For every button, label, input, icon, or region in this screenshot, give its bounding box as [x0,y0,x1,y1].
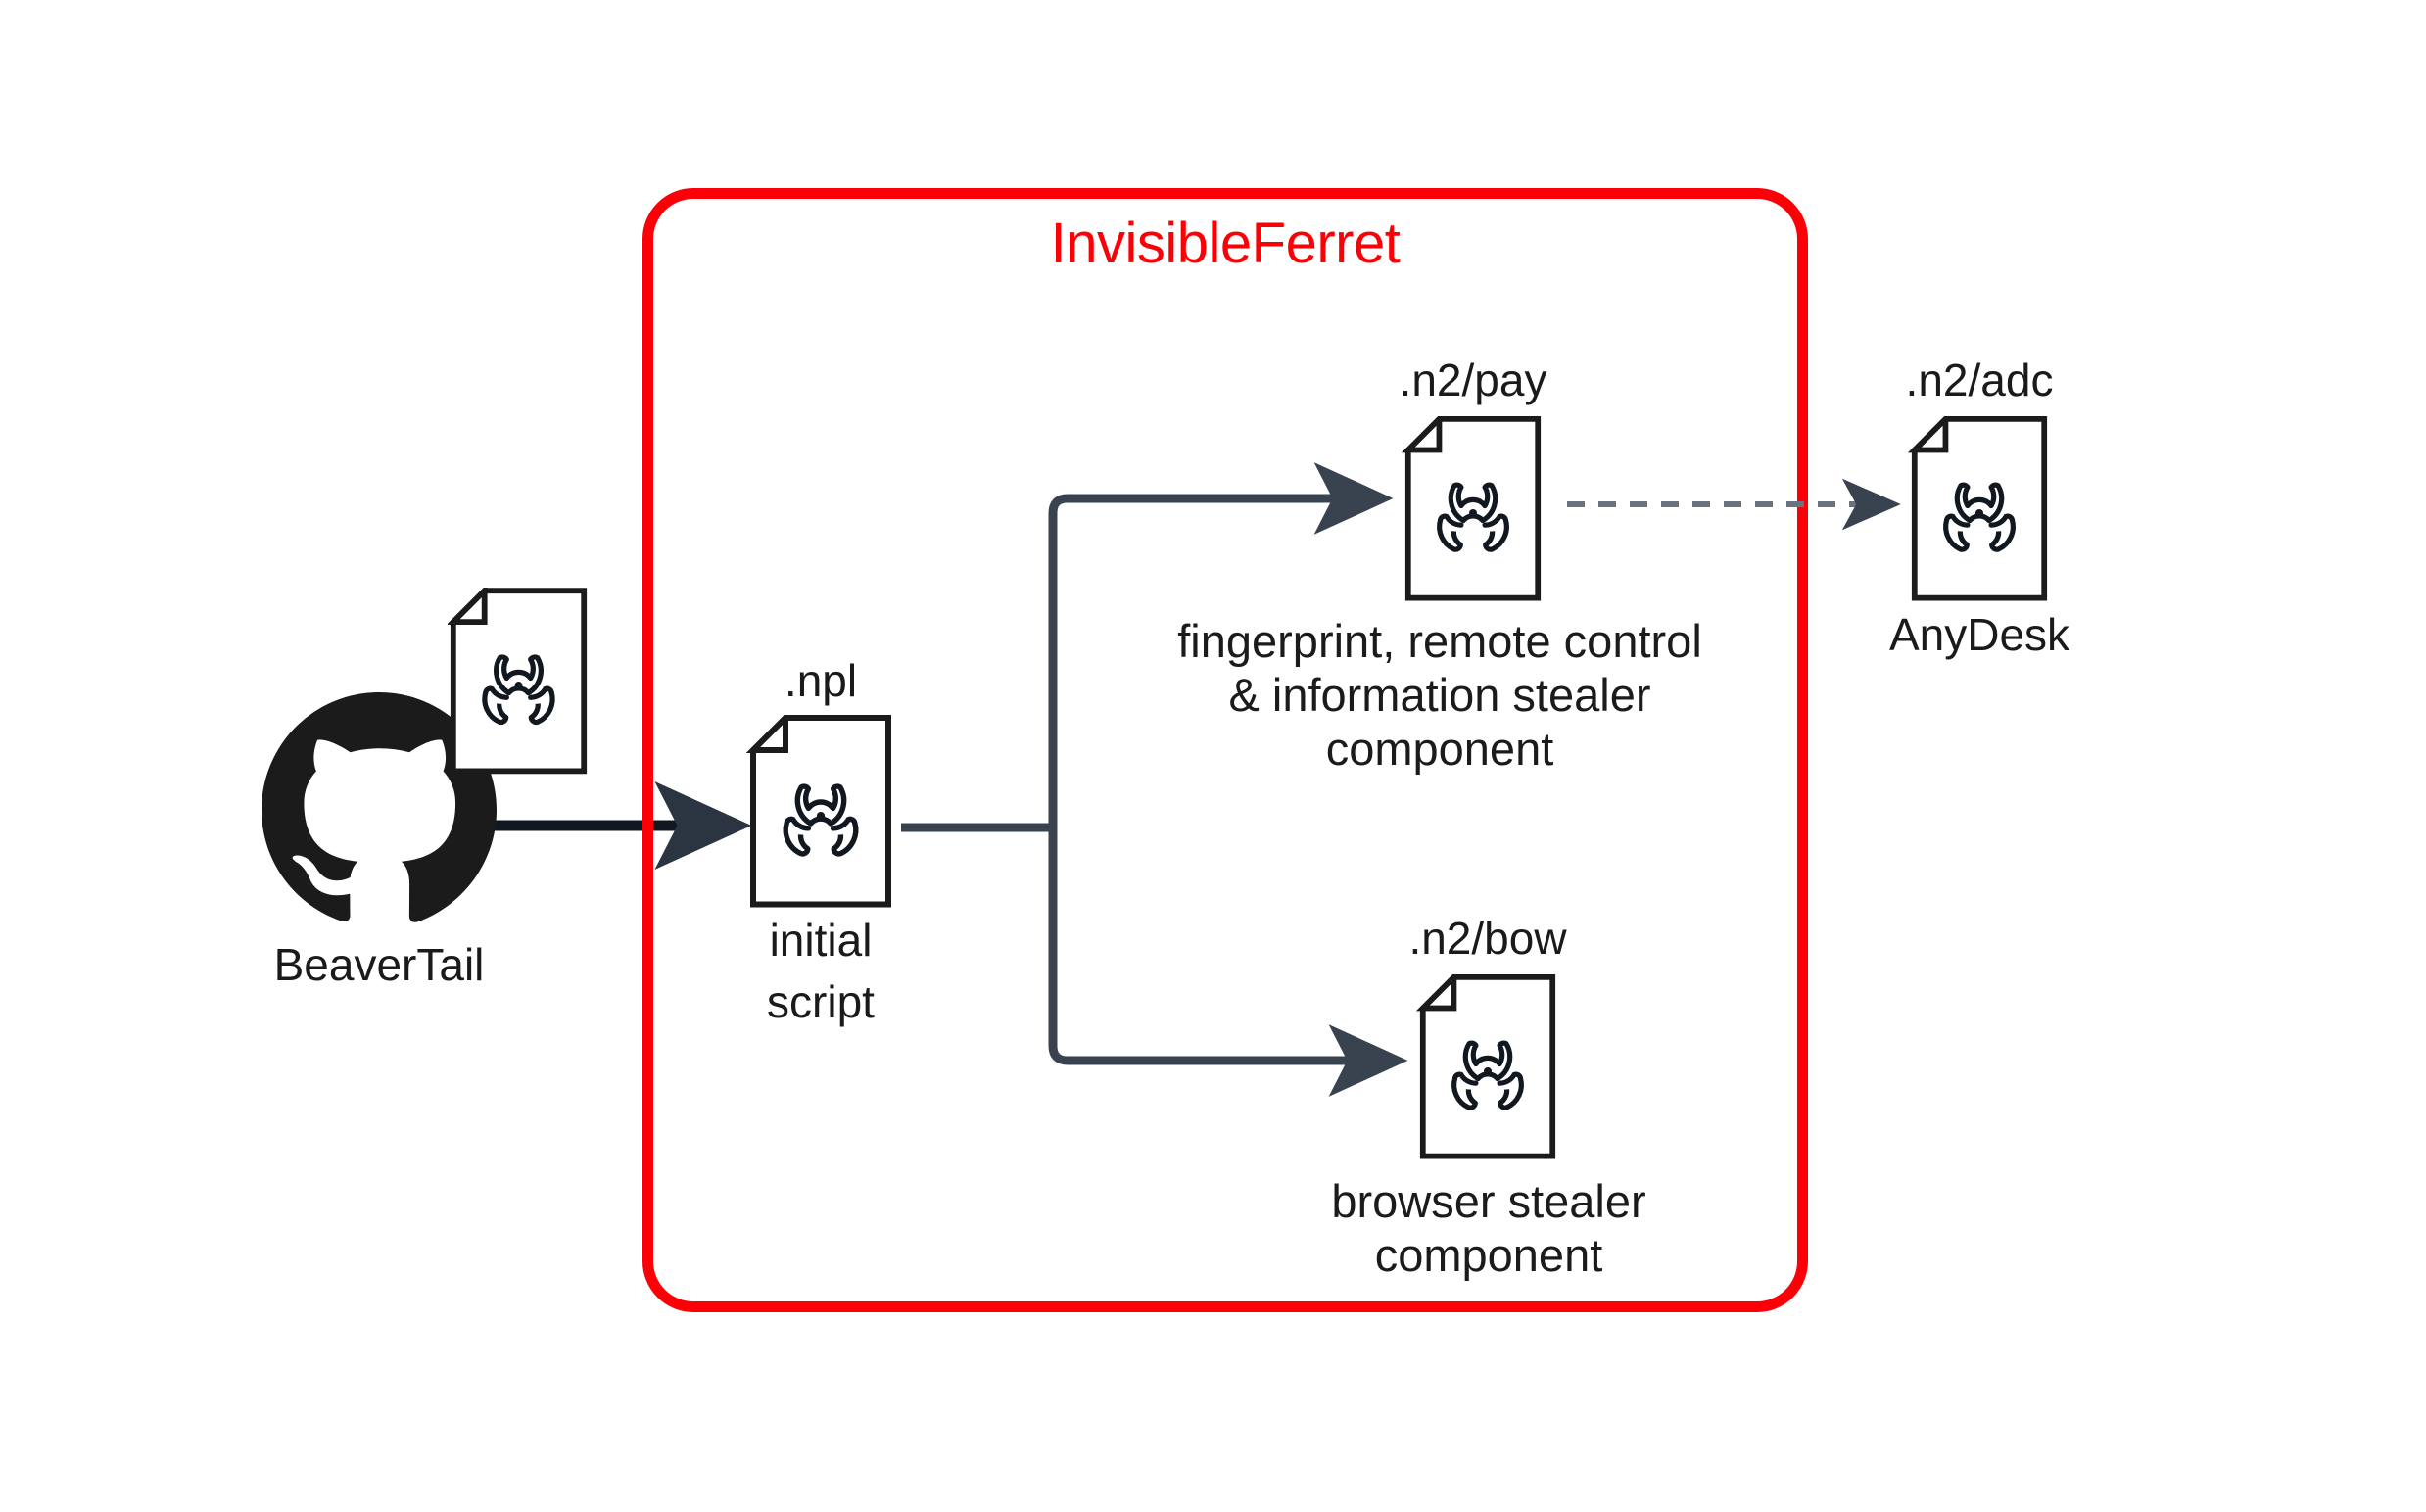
n2-bow-description: browser stealer component [1244,1175,1734,1283]
n2-bow-description-line2: component [1244,1229,1734,1283]
n2-bow-label: .n2/bow [1408,914,1566,965]
containment-box-title: InvisibleFerret [642,211,1808,276]
n2-pay-description-line3: component [1068,723,1812,777]
biohazard-document-icon [1905,416,2054,602]
biohazard-document-icon [1413,974,1562,1160]
n2-pay-description: fingerprint, remote control & informatio… [1068,615,1812,777]
n2-adc-label: .n2/adc [1906,355,2054,406]
diagram-canvas: InvisibleFerret BeaverTail [0,0,2426,1512]
n2-pay-description-line1: fingerprint, remote control [1068,615,1812,669]
node-npl-initial-script[interactable]: .npl initial script [746,715,895,909]
beavertail-label: BeaverTail [274,940,485,991]
node-n2-adc[interactable]: .n2/adc AnyDesk [1905,416,2054,602]
npl-label: .npl [785,656,857,707]
biohazard-document-icon [448,588,590,776]
node-n2-pay[interactable]: .n2/pay [1399,416,1547,602]
node-beavertail-dropped-file[interactable] [448,588,590,776]
anydesk-label: AnyDesk [1889,610,2069,661]
biohazard-document-icon [746,715,895,909]
n2-bow-description-line1: browser stealer [1244,1175,1734,1229]
biohazard-document-icon [1399,416,1547,602]
npl-caption-line2: script [767,977,875,1028]
node-n2-bow[interactable]: .n2/bow [1413,974,1562,1160]
n2-pay-label: .n2/pay [1400,355,1547,406]
npl-caption-line1: initial [770,916,873,967]
n2-pay-description-line2: & information stealer [1068,669,1812,723]
